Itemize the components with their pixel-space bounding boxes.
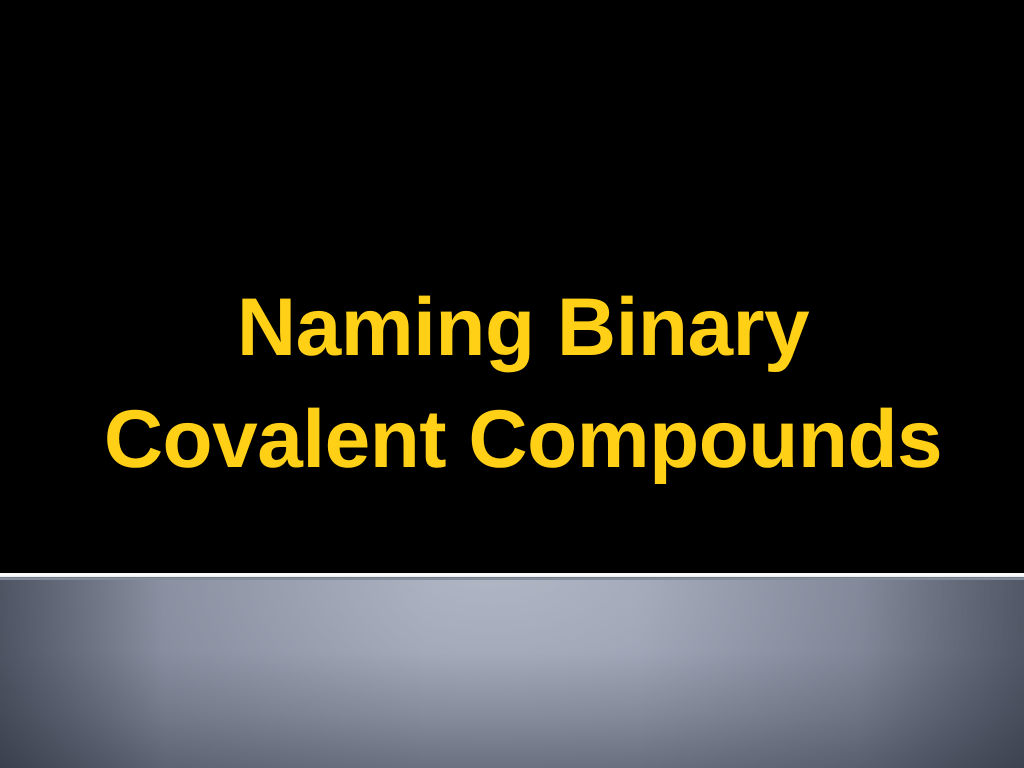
- slide-title-line-2: Covalent Compounds: [22, 384, 1024, 496]
- presentation-slide: Naming Binary Covalent Compounds: [0, 0, 1024, 768]
- slide-title: Naming Binary Covalent Compounds: [0, 272, 1024, 496]
- slide-title-line-1: Naming Binary: [22, 272, 1024, 384]
- slide-content-area: Naming Binary Covalent Compounds: [0, 0, 1024, 573]
- slide-footer-band: [0, 580, 1024, 768]
